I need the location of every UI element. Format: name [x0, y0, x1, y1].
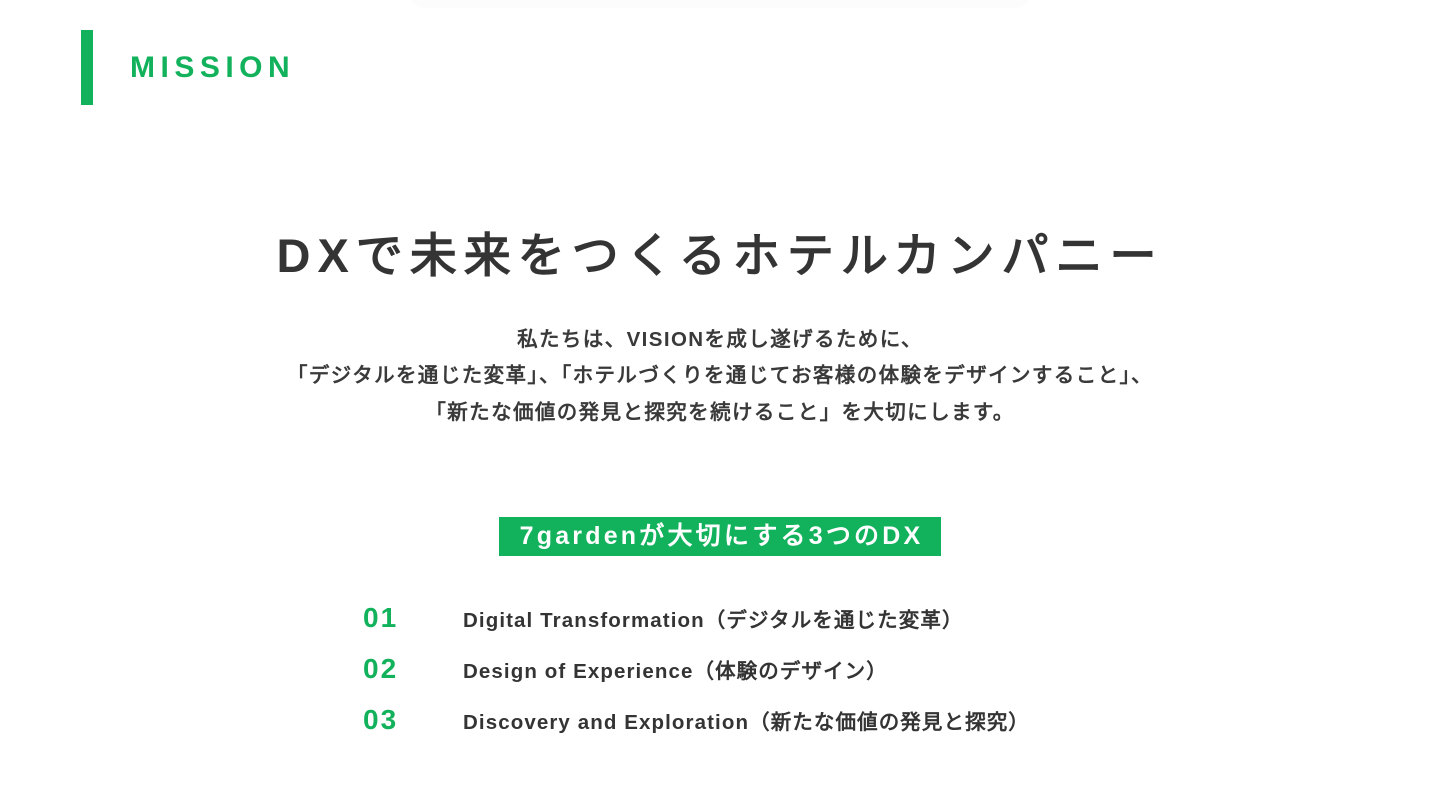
- lead-paragraph: 私たちは、VISIONを成し遂げるために、 「デジタルを通じた変革」、「ホテルづ…: [0, 322, 1440, 431]
- list-item-number: 01: [363, 604, 463, 632]
- lead-line-3: 「新たな価値の発見と探究を続けること」を大切にします。: [0, 395, 1440, 431]
- list-item-label: Discovery and Exploration（新たな価値の発見と探究）: [463, 713, 1030, 734]
- list-item: 03 Discovery and Exploration（新たな価値の発見と探究…: [363, 706, 1363, 757]
- list-item-label: Digital Transformation（デジタルを通じた変革）: [463, 611, 964, 632]
- page-title: DXで未来をつくるホテルカンパニー: [0, 228, 1440, 284]
- accent-bar: [81, 30, 93, 105]
- list-item: 01 Digital Transformation（デジタルを通じた変革）: [363, 604, 1363, 655]
- section-label-text: MISSION: [130, 53, 295, 83]
- mission-slide: MISSION DXで未来をつくるホテルカンパニー 私たちは、VISIONを成し…: [0, 0, 1440, 811]
- list-item-number: 03: [363, 706, 463, 734]
- list-item-label: Design of Experience（体験のデザイン）: [463, 662, 888, 683]
- dx-list: 01 Digital Transformation（デジタルを通じた変革） 02…: [363, 604, 1363, 757]
- list-item: 02 Design of Experience（体験のデザイン）: [363, 655, 1363, 706]
- highlight-banner: 7gardenが大切にする3つのDX: [499, 517, 942, 556]
- list-item-number: 02: [363, 655, 463, 683]
- banner-container: 7gardenが大切にする3つのDX: [0, 517, 1440, 556]
- lead-line-2: 「デジタルを通じた変革」、「ホテルづくりを通じてお客様の体験をデザインすること」…: [0, 358, 1440, 394]
- section-label: MISSION: [81, 30, 295, 105]
- top-edge-panel: [410, 0, 1030, 8]
- lead-line-1: 私たちは、VISIONを成し遂げるために、: [0, 322, 1440, 358]
